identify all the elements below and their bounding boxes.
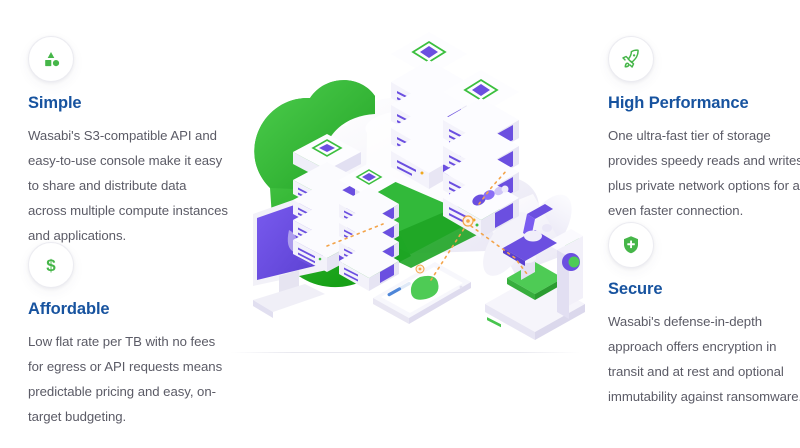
svg-text:$: $ <box>46 256 56 275</box>
shapes-icon <box>28 36 74 82</box>
isometric-cloud-storage-illustration <box>215 18 615 388</box>
server-rack-short <box>443 70 519 238</box>
feature-affordable: $ Affordable Low flat rate per TB with n… <box>28 242 228 429</box>
feature-body: Wasabi's defense-in-depth approach offer… <box>608 309 800 409</box>
feature-title: Simple <box>28 94 228 114</box>
feature-simple: Simple Wasabi's S3-compatible API and ea… <box>28 36 228 248</box>
feature-section: Simple Wasabi's S3-compatible API and ea… <box>0 0 800 448</box>
feature-title: Affordable <box>28 300 228 320</box>
feature-title: High Performance <box>608 94 800 114</box>
feature-body: One ultra-fast tier of storage provides … <box>608 123 800 223</box>
dollar-icon: $ <box>28 242 74 288</box>
section-divider <box>230 352 580 353</box>
feature-secure: Secure Wasabi's defense-in-depth approac… <box>608 222 800 409</box>
feature-body: Wasabi's S3-compatible API and easy-to-u… <box>28 123 228 248</box>
feature-body: Low flat rate per TB with no fees for eg… <box>28 329 228 429</box>
feature-title: Secure <box>608 280 800 300</box>
feature-high-performance: High Performance One ultra-fast tier of … <box>608 36 800 223</box>
